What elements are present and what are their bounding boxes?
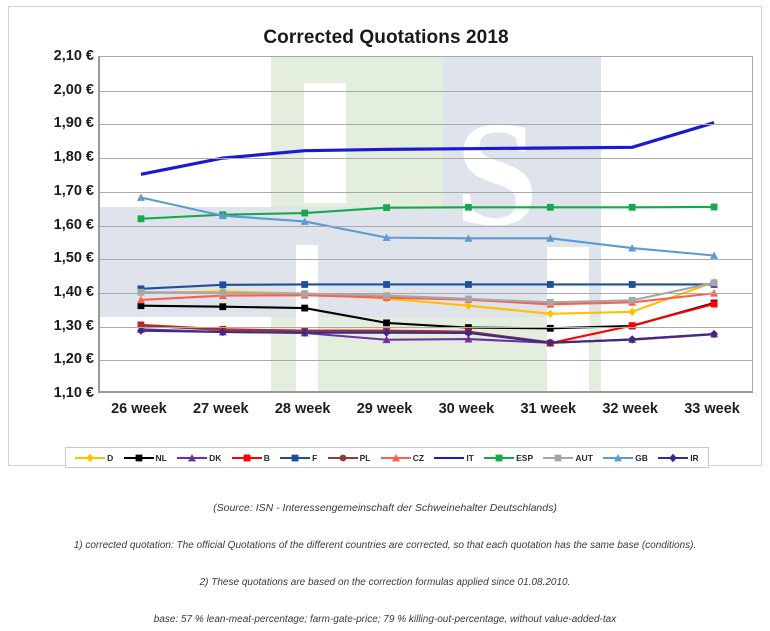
legend-item-aut[interactable]: AUT — [543, 453, 592, 463]
y-tick-label: 1,90 € — [18, 115, 94, 131]
series-line — [141, 303, 714, 328]
data-point-marker — [465, 281, 472, 288]
data-point-marker — [614, 454, 622, 461]
gridline — [100, 360, 752, 361]
legend-swatch-icon — [434, 453, 464, 463]
gridline — [100, 327, 752, 328]
y-tick-label: 1,10 € — [18, 385, 94, 401]
legend-label: CZ — [413, 453, 424, 463]
note-3: base: 57 % lean-meat-percentage; farm-ga… — [0, 614, 770, 625]
data-point-marker — [138, 215, 145, 222]
gridline — [100, 226, 752, 227]
legend-swatch-icon — [75, 453, 105, 463]
x-tick-label: 33 week — [684, 401, 740, 417]
legend-swatch-icon — [381, 453, 411, 463]
note-2: 2) These quotations are based on the cor… — [0, 577, 770, 588]
x-axis-labels: 26 week27 week28 week29 week30 week31 we… — [98, 401, 753, 425]
gridline — [100, 91, 752, 92]
y-axis-labels: 2,10 €2,00 €1,90 €1,80 €1,70 €1,60 €1,50… — [14, 56, 94, 393]
data-point-marker — [629, 204, 636, 211]
y-tick-mark — [98, 124, 99, 125]
plot-area: S — [98, 56, 753, 393]
legend-label: DK — [209, 453, 221, 463]
series-line — [141, 284, 714, 288]
legend-swatch-icon — [484, 453, 514, 463]
data-point-marker — [669, 453, 677, 461]
data-point-marker — [219, 303, 226, 310]
y-tick-label: 2,10 € — [18, 48, 94, 64]
series-line — [141, 331, 714, 343]
legend-label: AUT — [575, 453, 592, 463]
legend-item-pl[interactable]: PL — [328, 453, 371, 463]
data-point-marker — [711, 301, 718, 308]
data-point-marker — [339, 454, 346, 461]
legend-item-it[interactable]: IT — [434, 453, 474, 463]
data-point-marker — [547, 310, 555, 318]
x-tick-label: 26 week — [111, 401, 167, 417]
data-point-marker — [301, 281, 308, 288]
note-1: 1) corrected quotation: The official Quo… — [0, 540, 770, 551]
legend-label: D — [107, 453, 113, 463]
data-point-marker — [392, 454, 400, 461]
data-point-marker — [465, 204, 472, 211]
y-tick-label: 1,50 € — [18, 250, 94, 266]
legend-swatch-icon — [177, 453, 207, 463]
data-point-marker — [496, 454, 503, 461]
x-tick-label: 32 week — [602, 401, 658, 417]
data-point-marker — [243, 454, 250, 461]
legend-label: NL — [156, 453, 167, 463]
data-point-marker — [547, 299, 554, 306]
y-tick-mark — [98, 360, 99, 361]
y-tick-label: 1,40 € — [18, 284, 94, 300]
x-tick-label: 28 week — [275, 401, 331, 417]
legend-label: GB — [635, 453, 648, 463]
legend-item-f[interactable]: F — [280, 453, 317, 463]
series-lines — [100, 57, 753, 393]
gridline — [100, 124, 752, 125]
x-tick-label: 31 week — [520, 401, 576, 417]
data-point-marker — [292, 454, 299, 461]
chart-title: Corrected Quotations 2018 — [9, 27, 763, 49]
legend-item-gb[interactable]: GB — [603, 453, 648, 463]
y-tick-mark — [98, 57, 99, 58]
legend-swatch-icon — [603, 453, 633, 463]
data-point-marker — [135, 454, 142, 461]
data-point-marker — [383, 281, 390, 288]
series-line — [141, 123, 714, 175]
data-point-marker — [547, 204, 554, 211]
x-tick-label: 30 week — [439, 401, 495, 417]
data-point-marker — [547, 325, 554, 332]
legend-swatch-icon — [232, 453, 262, 463]
series-it — [141, 123, 714, 175]
chart-legend: DNLDKBFPLCZITESPAUTGBIR — [65, 447, 709, 468]
footnotes: (Source: ISN - Interessengemeinschaft de… — [0, 474, 770, 625]
legend-swatch-icon — [658, 453, 688, 463]
gridline — [100, 259, 752, 260]
gridline — [100, 192, 752, 193]
y-tick-label: 1,80 € — [18, 149, 94, 165]
legend-item-ir[interactable]: IR — [658, 453, 699, 463]
legend-item-cz[interactable]: CZ — [381, 453, 424, 463]
legend-item-b[interactable]: B — [232, 453, 270, 463]
data-point-marker — [301, 305, 308, 312]
y-tick-label: 1,30 € — [18, 318, 94, 334]
legend-label: PL — [360, 453, 371, 463]
y-tick-mark — [98, 158, 99, 159]
x-tick-label: 27 week — [193, 401, 249, 417]
legend-swatch-icon — [124, 453, 154, 463]
y-tick-mark — [98, 192, 99, 193]
legend-label: IT — [466, 453, 474, 463]
series-esp — [138, 204, 718, 223]
legend-item-nl[interactable]: NL — [124, 453, 167, 463]
legend-label: ESP — [516, 453, 533, 463]
data-point-marker — [555, 454, 562, 461]
y-tick-mark — [98, 327, 99, 328]
plot-inner: S — [100, 57, 752, 391]
legend-label: F — [312, 453, 317, 463]
series-line — [141, 304, 714, 343]
data-point-marker — [711, 204, 718, 211]
y-tick-mark — [98, 226, 99, 227]
gridline — [100, 158, 752, 159]
note-source: (Source: ISN - Interessengemeinschaft de… — [0, 502, 770, 514]
y-tick-label: 2,00 € — [18, 82, 94, 98]
data-point-marker — [547, 281, 554, 288]
legend-item-dk[interactable]: DK — [177, 453, 221, 463]
chart-frame: Corrected Quotations 2018 2,10 €2,00 €1,… — [8, 6, 762, 466]
data-point-marker — [86, 453, 94, 461]
data-point-marker — [219, 281, 226, 288]
data-point-marker — [465, 296, 472, 303]
data-point-marker — [711, 279, 718, 286]
data-point-marker — [301, 210, 308, 217]
y-tick-label: 1,70 € — [18, 183, 94, 199]
y-tick-label: 1,20 € — [18, 351, 94, 367]
legend-swatch-icon — [543, 453, 573, 463]
y-tick-mark — [98, 91, 99, 92]
data-point-marker — [383, 319, 390, 326]
legend-label: B — [264, 453, 270, 463]
legend-item-d[interactable]: D — [75, 453, 113, 463]
gridline — [100, 293, 752, 294]
legend-swatch-icon — [328, 453, 358, 463]
y-tick-label: 1,60 € — [18, 217, 94, 233]
data-point-marker — [629, 281, 636, 288]
legend-swatch-icon — [280, 453, 310, 463]
data-point-marker — [628, 308, 636, 316]
legend-label: IR — [690, 453, 699, 463]
y-tick-mark — [98, 293, 99, 294]
chart-page: Corrected Quotations 2018 2,10 €2,00 €1,… — [0, 0, 770, 631]
legend-item-esp[interactable]: ESP — [484, 453, 533, 463]
x-tick-label: 29 week — [357, 401, 413, 417]
data-point-marker — [188, 454, 196, 461]
y-tick-mark — [98, 259, 99, 260]
data-point-marker — [383, 204, 390, 211]
data-point-marker — [629, 297, 636, 304]
